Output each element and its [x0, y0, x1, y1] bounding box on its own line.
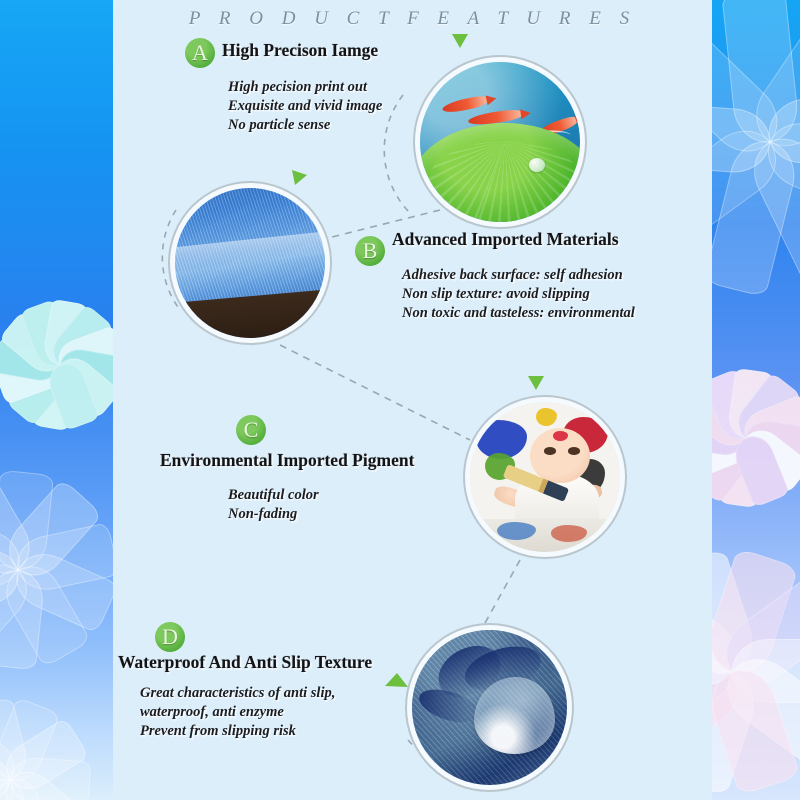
feature-image-b: [175, 188, 325, 338]
left-decorative-border: [0, 0, 113, 800]
page-title: P R O D U C T F E A T U R E S: [113, 0, 712, 30]
arrow-up-icon: [385, 673, 408, 687]
feature-title-d: Waterproof And Anti Slip Texture: [118, 652, 372, 673]
feature-title-c: Environmental Imported Pigment: [160, 450, 414, 471]
arrow-up-icon: [528, 376, 544, 390]
feature-line: Exquisite and vivid image: [228, 97, 382, 116]
feature-lines-d: Great characteristics of anti slip, wate…: [140, 684, 335, 741]
feature-title-a: High Precison Iamge: [222, 40, 378, 61]
feature-line: Beautiful color: [228, 486, 319, 505]
arrow-up-icon: [292, 170, 307, 185]
feature-badge-a: A: [185, 38, 215, 68]
feature-line: Adhesive back surface: self adhesion: [402, 266, 635, 285]
feature-image-a: [420, 62, 580, 222]
feature-title-b: Advanced Imported Materials: [392, 229, 619, 250]
feature-line: Great characteristics of anti slip,: [140, 684, 335, 703]
connector-lines: [0, 0, 800, 800]
feature-line: Prevent from slipping risk: [140, 722, 335, 741]
feature-lines-a: High pecision print out Exquisite and vi…: [228, 78, 382, 135]
feature-line: No particle sense: [228, 116, 382, 135]
header: P R O D U C T F E A T U R E S: [113, 0, 712, 30]
feature-badge-c: C: [236, 415, 266, 445]
feature-image-c: [470, 402, 620, 552]
feature-lines-c: Beautiful color Non-fading: [228, 486, 319, 524]
feature-lines-b: Adhesive back surface: self adhesion Non…: [402, 266, 635, 323]
feature-badge-b: B: [355, 236, 385, 266]
right-decorative-border: [712, 0, 800, 800]
feature-badge-d: D: [155, 622, 185, 652]
feature-line: waterproof, anti enzyme: [140, 703, 335, 722]
feature-line: Non toxic and tasteless: environmental: [402, 304, 635, 323]
feature-line: Non slip texture: avoid slipping: [402, 285, 635, 304]
arrow-up-icon: [452, 34, 468, 48]
feature-line: High pecision print out: [228, 78, 382, 97]
feature-line: Non-fading: [228, 505, 319, 524]
feature-image-d: [412, 630, 567, 785]
product-features-infographic: P R O D U C T F E A T U R E S: [0, 0, 800, 800]
